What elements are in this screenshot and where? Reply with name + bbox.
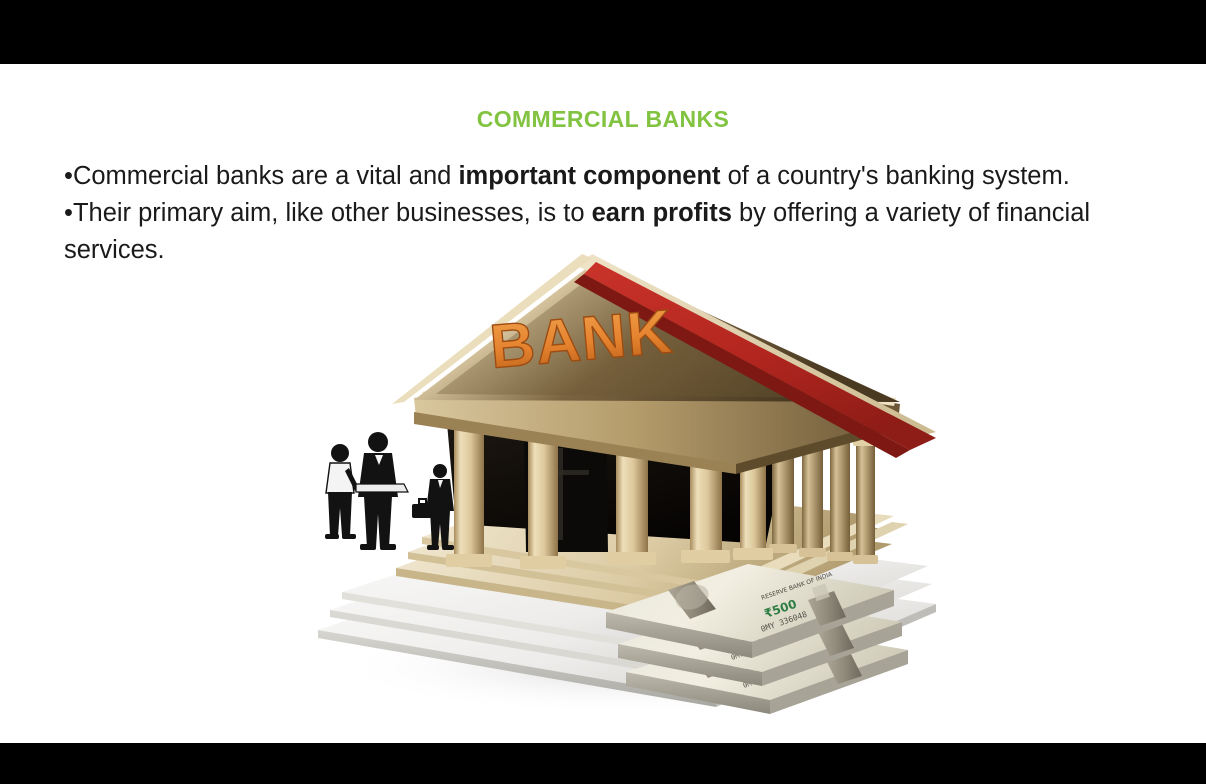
bank-building-illustration: BANK [296,252,936,722]
page-title: COMMERCIAL BANKS [0,106,1206,133]
bullet-1-text-part2: of a country's banking system. [721,162,1070,190]
people-silhouettes [325,432,454,550]
bullet-2-text-part2: by offering a variety of [732,199,990,227]
person-white-shirt [325,444,359,539]
bullet-marker-1: • [64,162,73,190]
slide-canvas: COMMERCIAL BANKS •Commercial banks are a… [0,64,1206,743]
letterbox-bottom-bar [0,743,1206,784]
bullet-1-text-part1: Commercial banks are a vital and [73,162,459,190]
bullet-line-1: •Commercial banks are a vital and import… [64,158,1154,195]
bullet-2-text-wrap [989,199,996,227]
side-column [827,431,853,561]
letterbox-top-bar [0,0,1206,64]
slide-frame: COMMERCIAL BANKS •Commercial banks are a… [0,0,1206,784]
bullet-1-bold-phrase: important component [458,162,720,190]
side-column [853,438,878,564]
bullet-marker-2: • [64,199,73,227]
person-dark-suit-with-document [356,432,408,550]
bullet-2-text-part1: Their primary aim, like other businesses… [73,199,592,227]
person-with-briefcase [412,464,454,550]
bullet-2-bold-phrase: earn profits [592,199,732,227]
